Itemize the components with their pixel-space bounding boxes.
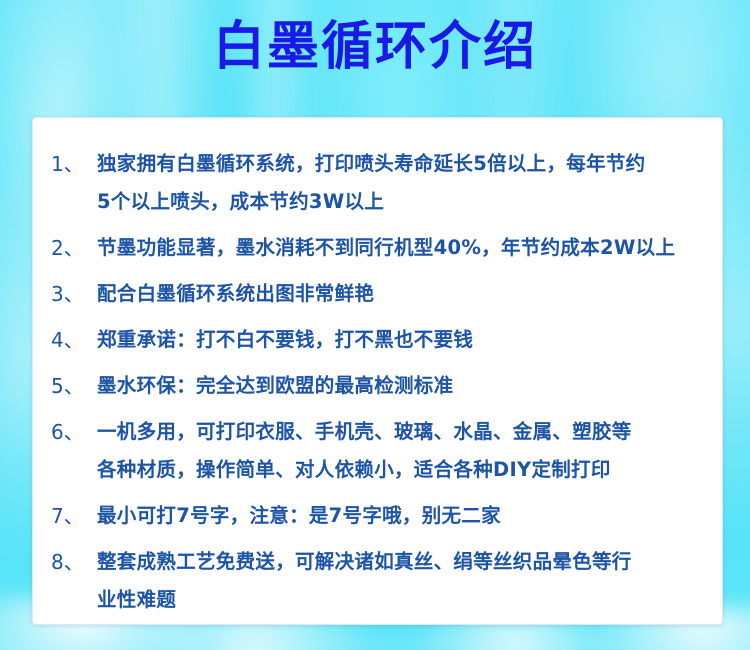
list-item-body: 整套成熟工艺免费送，可解决诸如真丝、绢等丝织品晕色等行业性难题 [97, 543, 712, 619]
list-item: 7、最小可打7号字，注意：是7号字哦，别无二家 [51, 497, 712, 535]
list-item-body: 节墨功能显著，墨水消耗不到同行机型40%，年节约成本2W以上 [97, 229, 712, 267]
page-title-container: 白墨循环介绍 [0, 18, 750, 78]
list-item-number: 5、 [51, 367, 97, 405]
list-item-body: 郑重承诺：打不白不要钱，打不黑也不要钱 [97, 321, 712, 359]
feature-list: 1、独家拥有白墨循环系统，打印喷头寿命延长5倍以上，每年节约5个以上喷头，成本节… [51, 145, 712, 619]
list-item-line: 各种材质，操作简单、对人依赖小，适合各种DIY定制打印 [97, 451, 712, 489]
list-item-number: 6、 [51, 413, 97, 451]
list-item-body: 最小可打7号字，注意：是7号字哦，别无二家 [97, 497, 712, 535]
list-item-body: 墨水环保：完全达到欧盟的最高检测标准 [97, 367, 712, 405]
list-item-number: 4、 [51, 321, 97, 359]
list-item-number: 2、 [51, 229, 97, 267]
list-item: 8、整套成熟工艺免费送，可解决诸如真丝、绢等丝织品晕色等行业性难题 [51, 543, 712, 619]
page-title: 白墨循环介绍 [213, 18, 537, 78]
list-item: 4、郑重承诺：打不白不要钱，打不黑也不要钱 [51, 321, 712, 359]
list-item-number: 1、 [51, 145, 97, 183]
list-item-body: 一机多用，可打印衣服、手机壳、玻璃、水晶、金属、塑胶等各种材质，操作简单、对人依… [97, 413, 712, 489]
list-item: 3、配合白墨循环系统出图非常鲜艳 [51, 275, 712, 313]
list-item-line: 5个以上喷头，成本节约3W以上 [97, 183, 712, 221]
list-item-line: 节墨功能显著，墨水消耗不到同行机型40%，年节约成本2W以上 [97, 229, 712, 267]
list-item-number: 7、 [51, 497, 97, 535]
list-item: 2、节墨功能显著，墨水消耗不到同行机型40%，年节约成本2W以上 [51, 229, 712, 267]
list-item: 6、一机多用，可打印衣服、手机壳、玻璃、水晶、金属、塑胶等各种材质，操作简单、对… [51, 413, 712, 489]
content-card: 1、独家拥有白墨循环系统，打印喷头寿命延长5倍以上，每年节约5个以上喷头，成本节… [32, 117, 723, 625]
list-item-line: 整套成熟工艺免费送，可解决诸如真丝、绢等丝织品晕色等行 [97, 543, 712, 581]
list-item-line: 独家拥有白墨循环系统，打印喷头寿命延长5倍以上，每年节约 [97, 145, 712, 183]
list-item-line: 业性难题 [97, 581, 712, 619]
poster-root: 白墨循环介绍 1、独家拥有白墨循环系统，打印喷头寿命延长5倍以上，每年节约5个以… [0, 0, 750, 650]
list-item-line: 郑重承诺：打不白不要钱，打不黑也不要钱 [97, 321, 712, 359]
list-item: 5、墨水环保：完全达到欧盟的最高检测标准 [51, 367, 712, 405]
list-item-number: 3、 [51, 275, 97, 313]
list-item-line: 最小可打7号字，注意：是7号字哦，别无二家 [97, 497, 712, 535]
list-item-body: 配合白墨循环系统出图非常鲜艳 [97, 275, 712, 313]
list-item-line: 配合白墨循环系统出图非常鲜艳 [97, 275, 712, 313]
list-item: 1、独家拥有白墨循环系统，打印喷头寿命延长5倍以上，每年节约5个以上喷头，成本节… [51, 145, 712, 221]
list-item-line: 墨水环保：完全达到欧盟的最高检测标准 [97, 367, 712, 405]
list-item-number: 8、 [51, 543, 97, 581]
list-item-body: 独家拥有白墨循环系统，打印喷头寿命延长5倍以上，每年节约5个以上喷头，成本节约3… [97, 145, 712, 221]
list-item-line: 一机多用，可打印衣服、手机壳、玻璃、水晶、金属、塑胶等 [97, 413, 712, 451]
